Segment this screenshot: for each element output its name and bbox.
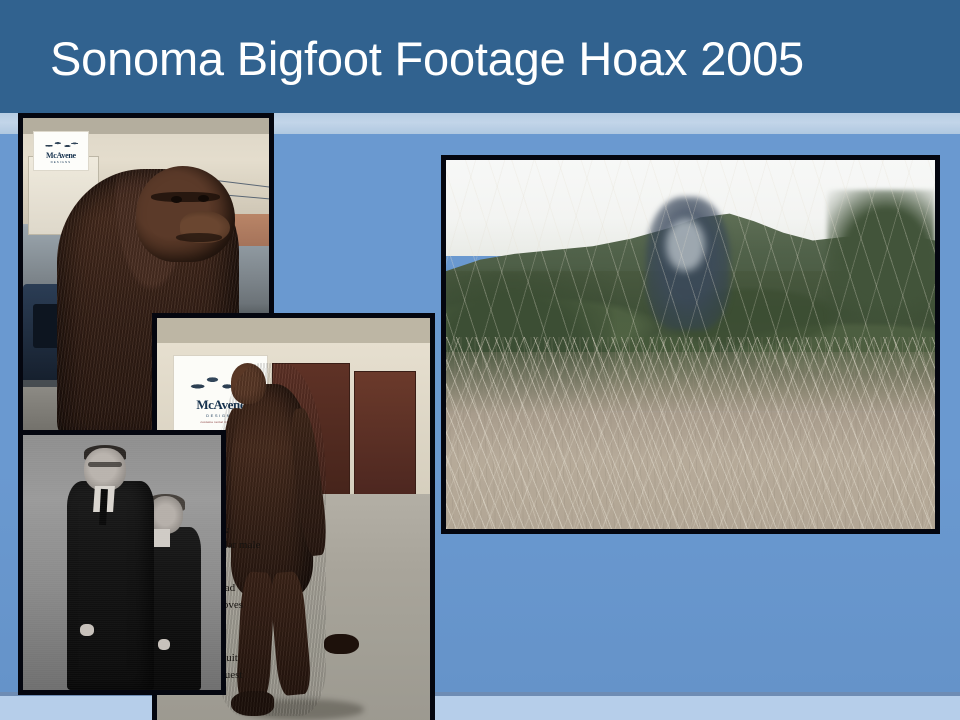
walking-garage-door-2: [354, 371, 416, 496]
walking-caption-block-2: head gloves: [214, 580, 323, 613]
closeup-creature-brow: [151, 192, 220, 203]
walking-caption-line-4: gloves: [214, 597, 323, 614]
penn-and-teller-photo: [18, 430, 226, 695]
walking-creature-foot-right: [324, 634, 359, 655]
footer-band: [0, 696, 960, 720]
walking-caption-block-1: on: cular male: [214, 523, 323, 553]
walking-caption-line-1: on:: [214, 523, 323, 538]
walking-wall-trim: [157, 318, 430, 343]
video-stalks-overlay: [446, 160, 935, 529]
walking-creature-head: [231, 363, 266, 404]
mcavene-logo-icon: [41, 138, 81, 151]
walking-caption-line-3: head: [214, 580, 323, 597]
walking-caption-line-2: cular male: [214, 538, 323, 553]
slide: Sonoma Bigfoot Footage Hoax 2005 McAvene…: [0, 0, 960, 720]
page-title: Sonoma Bigfoot Footage Hoax 2005: [50, 28, 930, 98]
closeup-creature-mouth: [176, 233, 223, 241]
mcavene-subtitle-text: DESIGNS: [51, 160, 72, 164]
mcavene-brand-text: McAvene: [46, 151, 76, 160]
walking-caption-line-6: equest: [214, 667, 323, 684]
closeup-creature-eye-left: [171, 196, 182, 203]
portrait-film-grain: [23, 435, 221, 690]
walking-caption-block-3: e suit equest: [214, 650, 323, 683]
bigfoot-video-still-photo: [441, 155, 940, 534]
walking-creature-foot-left: [231, 691, 275, 716]
walking-caption-line-5: e suit: [214, 650, 323, 667]
mcavene-sign-small: McAvene DESIGNS: [33, 131, 89, 171]
